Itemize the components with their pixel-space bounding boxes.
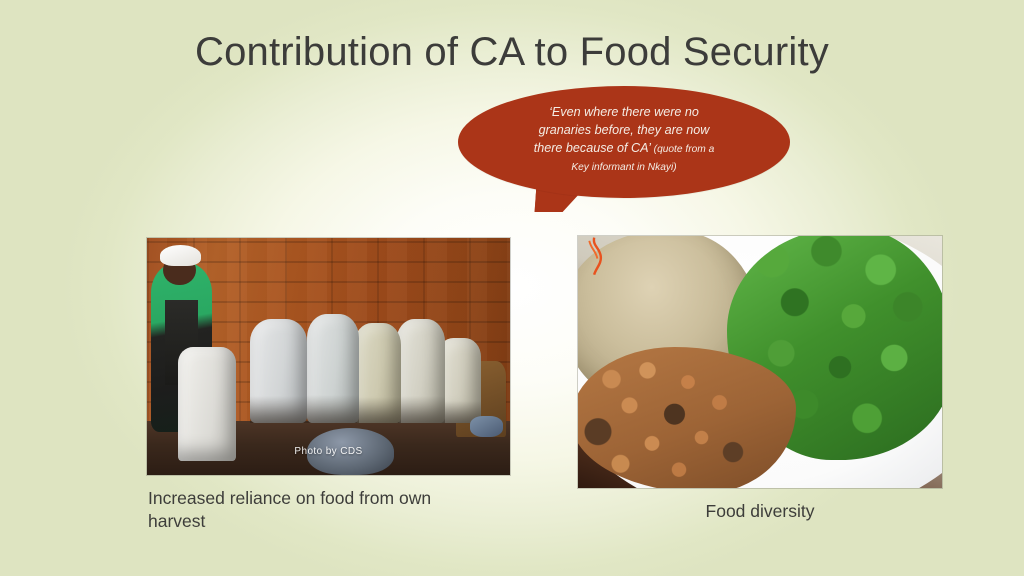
caption-left: Increased reliance on food from own harv…	[148, 487, 488, 533]
quote-callout: ‘Even where there were no granaries befo…	[458, 86, 790, 216]
page-title: Contribution of CA to Food Security	[0, 30, 1024, 74]
quote-line-2: granaries before, they are now	[539, 123, 710, 137]
caption-right: Food diversity	[578, 500, 942, 523]
beans-and-meat-portion	[578, 347, 796, 488]
woman-headscarf	[160, 245, 202, 266]
image-food-plate	[578, 236, 942, 488]
photo-credit-watermark: Photo by CDS	[294, 446, 362, 457]
grain-sack-held-open	[178, 347, 236, 461]
image-grain-sacks: Photo by CDS	[147, 238, 510, 475]
quote-attribution-1: (quote from a	[654, 144, 715, 155]
grain-sack	[250, 319, 306, 423]
grain-sack	[354, 323, 401, 423]
straw-icon	[582, 236, 626, 276]
blue-cloth	[470, 416, 503, 437]
quote-line-3: there because of CA’	[534, 141, 654, 155]
callout-text: ‘Even where there were no granaries befo…	[470, 104, 778, 176]
quote-line-1: ‘Even where there were no	[549, 105, 699, 119]
grain-sack	[396, 319, 445, 423]
slide-canvas: Contribution of CA to Food Security ‘Eve…	[0, 0, 1024, 576]
grain-sack	[307, 314, 360, 423]
quote-attribution-2: Key informant in Nkayi)	[571, 162, 676, 173]
